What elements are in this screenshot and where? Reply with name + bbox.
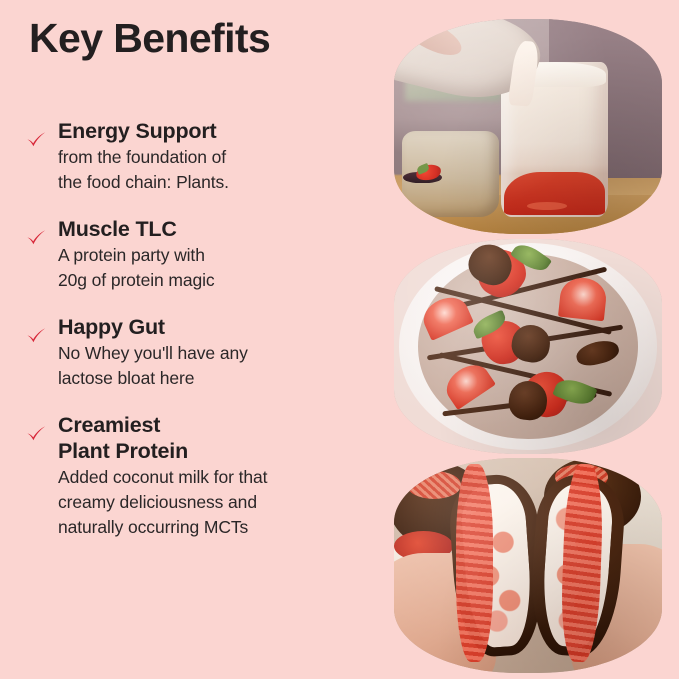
benefit-item-happy-gut: Happy Gut No Whey you'll have any lactos… [0, 314, 380, 391]
benefit-description: A protein party with 20g of protein magi… [58, 243, 380, 293]
strawberry-smoothie-pour-photo [394, 19, 662, 234]
benefit-description: Added coconut milk for that creamy delic… [58, 465, 380, 540]
benefit-title: Happy Gut [58, 314, 380, 340]
benefits-list: Energy Support from the foundation of th… [0, 118, 380, 561]
check-icon [25, 130, 47, 152]
photo-column [394, 0, 662, 679]
chocolate-drizzle-smoothie-bowl-photo [394, 239, 662, 454]
benefit-item-muscle-tlc: Muscle TLC A protein party with 20g of p… [0, 216, 380, 293]
chocolate-covered-strawberry-halves-photo [394, 458, 662, 673]
benefit-item-energy-support: Energy Support from the foundation of th… [0, 118, 380, 195]
page-title: Key Benefits [29, 16, 270, 61]
key-benefits-graphic: Key Benefits Energy Support from the fou… [0, 0, 679, 679]
benefits-column: Key Benefits Energy Support from the fou… [0, 0, 380, 679]
benefit-title: Muscle TLC [58, 216, 380, 242]
benefit-description: No Whey you'll have any lactose bloat he… [58, 341, 380, 391]
check-icon [25, 326, 47, 348]
benefit-title: Creamiest Plant Protein [58, 412, 380, 464]
check-icon [25, 228, 47, 250]
check-icon [25, 424, 47, 446]
benefit-description: from the foundation of the food chain: P… [58, 145, 380, 195]
benefit-title: Energy Support [58, 118, 380, 144]
benefit-item-creamiest-plant-protein: Creamiest Plant Protein Added coconut mi… [0, 412, 380, 540]
